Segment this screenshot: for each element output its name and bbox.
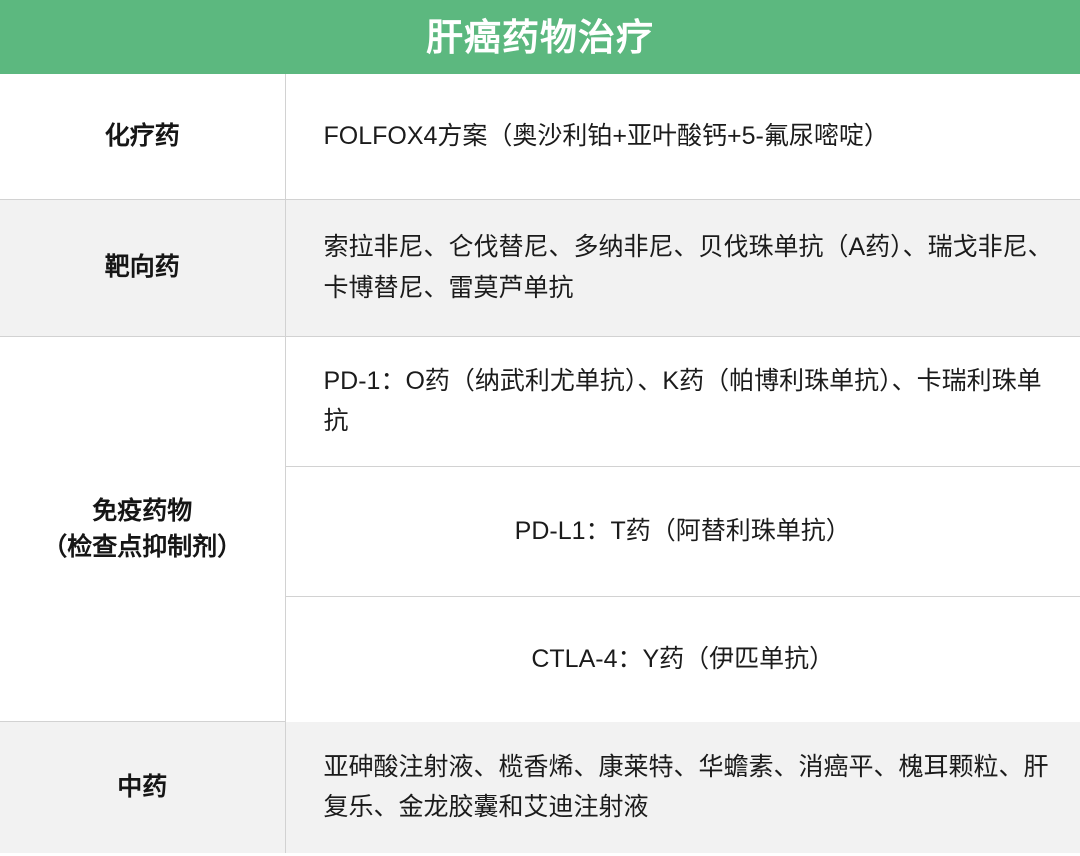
row-label-immunotherapy: 免疫药物 （检查点抑制剂） [0,336,285,722]
page-title: 肝癌药物治疗 [426,19,654,56]
row-value-tcm: 亚砷酸注射液、榄香烯、康莱特、华蟾素、消癌平、槐耳颗粒、肝复乐、金龙胶囊和艾迪注… [285,722,1080,853]
row-label-tcm: 中药 [0,722,285,853]
row-label-chemotherapy: 化疗药 [0,74,285,199]
subrow-value-pd1: PD-1：O药（纳武利尤单抗）、K药（帕博利珠单抗）、卡瑞利珠单抗 [286,337,1080,467]
row-label-line: 化疗药 [8,118,277,154]
row-label-line: （检查点抑制剂） [8,529,277,565]
table-row: 化疗药 FOLFOX4方案（奥沙利铂+亚叶酸钙+5-氟尿嘧啶） [0,74,1080,199]
immunotherapy-subtable: PD-1：O药（纳武利尤单抗）、K药（帕博利珠单抗）、卡瑞利珠单抗 PD-L1：… [286,337,1080,722]
row-value-targeted: 索拉非尼、仑伐替尼、多纳非尼、贝伐珠单抗（A药）、瑞戈非尼、卡博替尼、雷莫芦单抗 [285,199,1080,336]
subtable-row: PD-L1：T药（阿替利珠单抗） [286,467,1080,597]
row-label-targeted: 靶向药 [0,199,285,336]
row-label-line: 免疫药物 [8,493,277,529]
subrow-value-pdl1: PD-L1：T药（阿替利珠单抗） [286,467,1080,597]
row-label-line: 靶向药 [8,249,277,285]
row-label-line: 中药 [8,769,277,805]
row-value-immunotherapy: PD-1：O药（纳武利尤单抗）、K药（帕博利珠单抗）、卡瑞利珠单抗 PD-L1：… [285,336,1080,722]
table-row: 免疫药物 （检查点抑制剂） PD-1：O药（纳武利尤单抗）、K药（帕博利珠单抗）… [0,336,1080,722]
drug-treatment-table: 化疗药 FOLFOX4方案（奥沙利铂+亚叶酸钙+5-氟尿嘧啶） 靶向药 索拉非尼… [0,74,1080,853]
table-row: 靶向药 索拉非尼、仑伐替尼、多纳非尼、贝伐珠单抗（A药）、瑞戈非尼、卡博替尼、雷… [0,199,1080,336]
table-row: 中药 亚砷酸注射液、榄香烯、康莱特、华蟾素、消癌平、槐耳颗粒、肝复乐、金龙胶囊和… [0,722,1080,853]
subrow-value-ctla4: CTLA-4：Y药（伊匹单抗） [286,597,1080,722]
page-header-banner: 肝癌药物治疗 [0,0,1080,74]
subtable-row: PD-1：O药（纳武利尤单抗）、K药（帕博利珠单抗）、卡瑞利珠单抗 [286,337,1080,467]
drug-treatment-table-page: 肝癌药物治疗 化疗药 FOLFOX4方案（奥沙利铂+亚叶酸钙+5-氟尿嘧啶） 靶… [0,0,1080,856]
row-value-chemotherapy: FOLFOX4方案（奥沙利铂+亚叶酸钙+5-氟尿嘧啶） [285,74,1080,199]
subtable-row: CTLA-4：Y药（伊匹单抗） [286,597,1080,722]
